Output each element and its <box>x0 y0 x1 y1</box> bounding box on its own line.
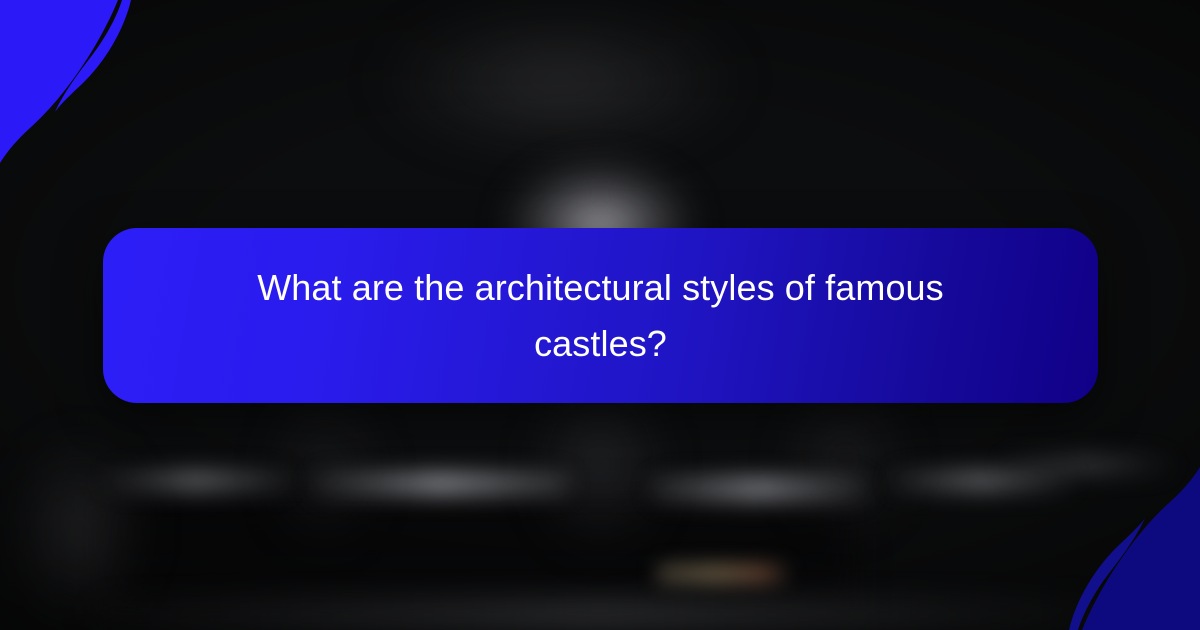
background-light-streak-1 <box>100 470 290 492</box>
background-blur-highlight-top <box>380 10 740 150</box>
background-light-streak-5 <box>1000 455 1175 475</box>
background-warm-accent-blob <box>655 563 790 585</box>
background-light-streak-4 <box>890 470 1075 492</box>
background-light-streak-2 <box>310 472 570 496</box>
background-blur-shape-right <box>790 390 900 530</box>
question-text: What are the architectural styles of fam… <box>231 260 971 372</box>
background-dark-surface <box>95 495 855 615</box>
background-blur-shape-left <box>20 440 140 620</box>
social-card-canvas: What are the architectural styles of fam… <box>0 0 1200 630</box>
background-light-streak-bottom <box>90 600 1110 630</box>
question-card[interactable]: What are the architectural styles of fam… <box>103 228 1098 403</box>
background-light-streak-3 <box>650 476 870 502</box>
background-blur-shape-left-inner <box>275 395 375 545</box>
background-blur-shape-center <box>540 380 660 550</box>
